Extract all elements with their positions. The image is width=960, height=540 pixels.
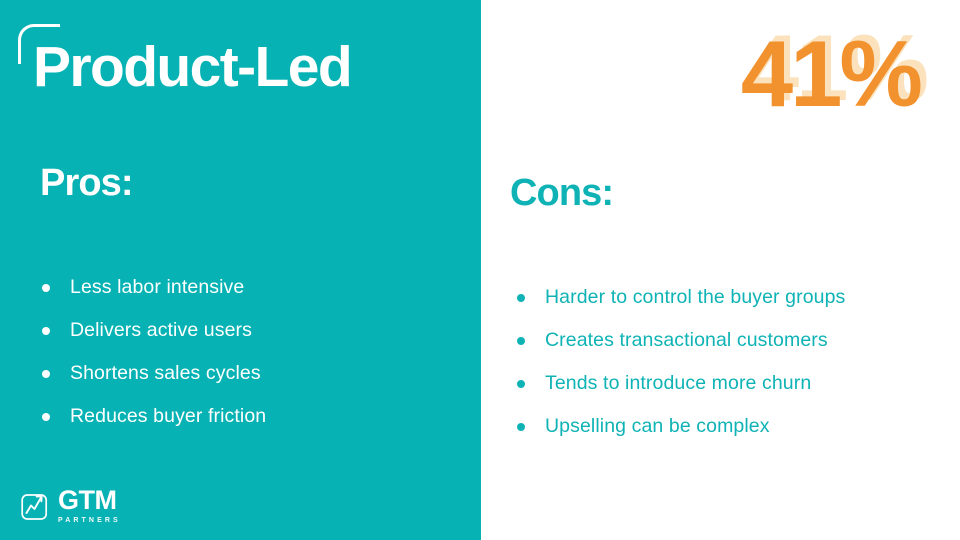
list-item: Shortens sales cycles (42, 352, 442, 395)
bullet-icon (517, 294, 525, 302)
cons-item-label: Upselling can be complex (545, 415, 770, 438)
bullet-icon (42, 413, 50, 421)
growth-chart-arrow-icon (20, 490, 52, 522)
bullet-icon (517, 380, 525, 388)
list-item: Creates transactional customers (517, 319, 947, 362)
logo-name: GTM (58, 487, 121, 514)
right-white-panel: 41% Cons: Harder to control the buyer gr… (481, 0, 960, 540)
cons-item-label: Creates transactional customers (545, 329, 828, 352)
pros-item-label: Shortens sales cycles (70, 362, 261, 385)
bullet-icon (42, 327, 50, 335)
pros-list: Less labor intensive Delivers active use… (42, 266, 442, 438)
list-item: Tends to introduce more churn (517, 362, 947, 405)
logo-tagline: PARTNERS (58, 517, 121, 524)
pros-item-label: Delivers active users (70, 319, 252, 342)
left-teal-panel: Product-Led Pros: Less labor intensive D… (0, 0, 481, 540)
logo-wordmark: GTM PARTNERS (58, 487, 121, 524)
bullet-icon (517, 423, 525, 431)
pros-item-label: Less labor intensive (70, 276, 244, 299)
bullet-icon (517, 337, 525, 345)
gtm-partners-logo: GTM PARTNERS (20, 487, 121, 524)
list-item: Reduces buyer friction (42, 395, 442, 438)
slide-canvas: Product-Led Pros: Less labor intensive D… (0, 0, 960, 540)
bullet-icon (42, 370, 50, 378)
cons-heading: Cons: (510, 173, 613, 215)
cons-item-label: Tends to introduce more churn (545, 372, 811, 395)
list-item: Harder to control the buyer groups (517, 276, 947, 319)
stat-value: 41% (741, 22, 920, 125)
pros-item-label: Reduces buyer friction (70, 405, 266, 428)
cons-item-label: Harder to control the buyer groups (545, 286, 845, 309)
bullet-icon (42, 284, 50, 292)
list-item: Less labor intensive (42, 266, 442, 309)
pros-heading: Pros: (40, 163, 133, 205)
page-title: Product-Led (33, 38, 351, 98)
stat-container: 41% (741, 22, 920, 132)
list-item: Delivers active users (42, 309, 442, 352)
list-item: Upselling can be complex (517, 405, 947, 448)
cons-list: Harder to control the buyer groups Creat… (517, 276, 947, 448)
